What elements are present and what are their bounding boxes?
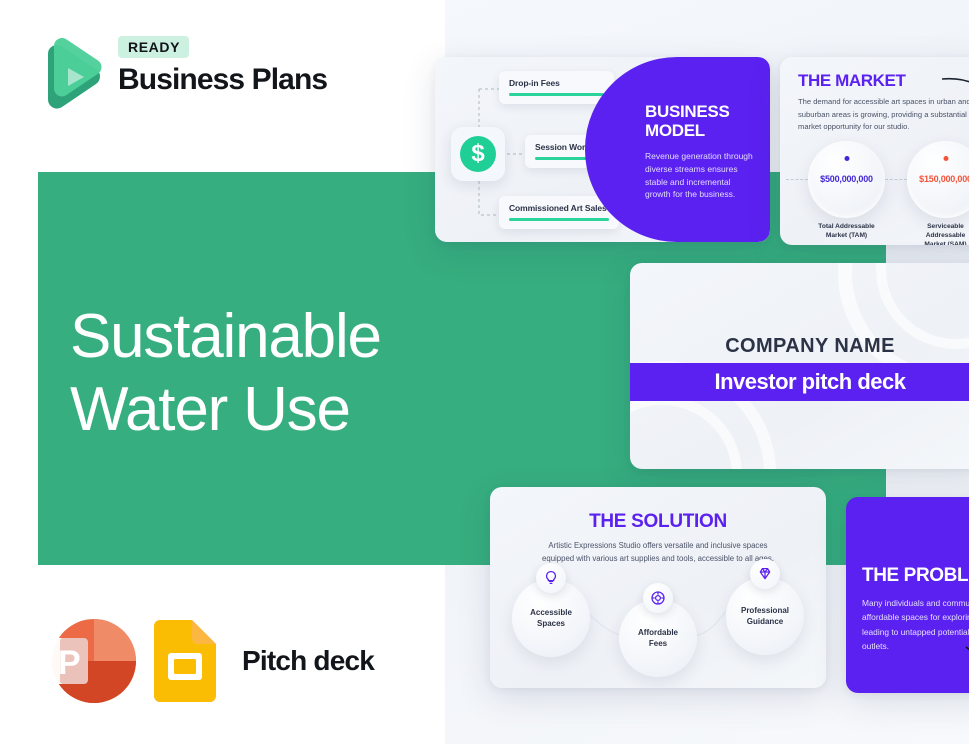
business-model-body: Revenue generation through diverse strea… [645,150,757,201]
problem-heading: THE PROBLEM [862,565,969,587]
poster-canvas: READY Business Plans Sustainable Water U… [0,0,969,744]
brand-text: READY Business Plans [118,36,327,96]
google-slides-icon [154,620,216,702]
metric-connector [786,179,808,181]
play-triangle-logo-icon [38,38,104,116]
solution-body: Artistic Expressions Studio offers versa… [542,540,774,566]
solution-label-1: Accessible Spaces [518,607,584,629]
filetype-row: P Pitch deck [42,616,374,706]
diamond-icon [750,559,780,589]
hero-title-line1: Sustainable [70,300,490,373]
metric-dot [943,156,948,161]
lightbulb-icon [536,563,566,593]
slide-the-solution[interactable]: THE SOLUTION Artistic Expressions Studio… [490,487,826,688]
company-subtitle: Investor pitch deck [714,369,905,395]
label-line1: Accessible [518,607,584,618]
label-line1: Professional [732,605,798,616]
solution-label-2: Affordable Fees [625,627,691,649]
node-label: Commissioned Art Sales [509,203,609,213]
caption-line2: Market (TAM) [808,231,885,240]
svg-text:P: P [58,644,81,682]
market-heading: THE MARKET [798,71,905,91]
label-line2: Fees [625,638,691,649]
metric-caption-tam: Total Addressable Market (TAM) [808,222,885,240]
slide-business-model[interactable]: Drop-in Fees Session Workshops Commissio… [435,57,770,242]
solution-label-3: Professional Guidance [732,605,798,627]
caption-line1: Serviceable Addressable [907,222,969,240]
heading-line2: MODEL [645,121,757,140]
caption-line2: Market (SAM) [907,240,969,245]
node-label: Drop-in Fees [509,78,604,88]
dollar-sign-icon: $ [460,136,496,172]
metric-connector [885,179,907,181]
target-icon [643,583,673,613]
slide-company-name[interactable]: COMPANY NAME Investor pitch deck [630,263,969,469]
business-model-heading: BUSINESS MODEL [645,102,757,140]
metric-value: $500,000,000 [808,174,885,184]
metric-value: $150,000,000 [907,174,969,184]
label-line2: Guidance [732,616,798,627]
label-line1: Affordable [625,627,691,638]
market-metrics: $500,000,000 Total Addressable Market (T… [786,141,969,241]
node-underline [509,93,604,96]
market-body: The demand for accessible art spaces in … [798,96,969,134]
filetype-label: Pitch deck [242,645,374,677]
hero-title: Sustainable Water Use [70,300,490,446]
metric-circle-tam[interactable]: $500,000,000 [808,141,885,218]
node-underline [509,218,609,221]
company-subtitle-band: Investor pitch deck [630,363,969,401]
business-model-node[interactable]: Drop-in Fees [499,71,614,104]
powerpoint-icon: P [42,616,136,706]
brand-lockup: READY Business Plans [38,36,378,120]
business-model-purple-block: BUSINESS MODEL Revenue generation throug… [585,57,770,242]
slide-the-problem[interactable]: THE PROBLEM Many individuals and communi… [846,497,969,693]
solution-heading: THE SOLUTION [490,511,826,533]
caption-line1: Total Addressable [808,222,885,231]
company-name: COMPANY NAME [630,335,969,358]
brand-title: Business Plans [118,63,327,96]
heading-line1: BUSINESS [645,102,757,121]
swoosh-underline-icon [964,643,969,669]
problem-body: Many individuals and communities lack ac… [862,596,969,654]
label-line2: Spaces [518,618,584,629]
hero-title-line2: Water Use [70,373,490,446]
solution-items: Accessible Spaces Affordable Fees [508,575,808,680]
slide-the-market[interactable]: THE MARKET The demand for accessible art… [780,57,969,245]
dollar-badge: $ [451,127,505,181]
metric-caption-sam: Serviceable Addressable Market (SAM) [907,222,969,245]
metric-dot [844,156,849,161]
ready-badge: READY [118,36,189,58]
metric-circle-sam[interactable]: $150,000,000 [907,141,969,218]
